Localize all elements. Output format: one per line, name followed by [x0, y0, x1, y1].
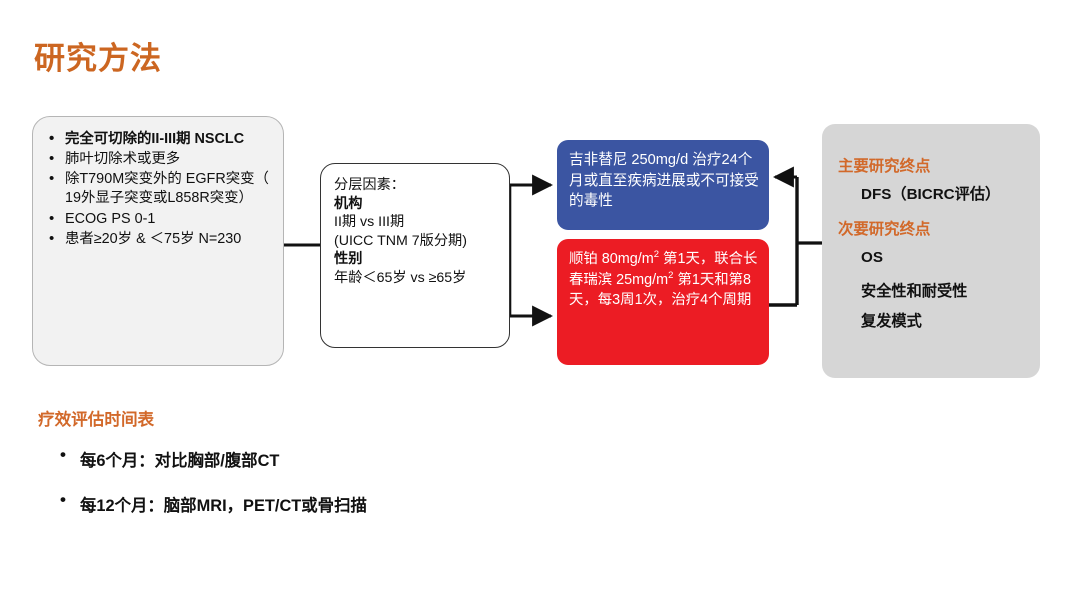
secondary-endpoint-item: 复发模式: [861, 313, 1032, 331]
primary-endpoint-heading: 主要研究终点: [838, 158, 1032, 176]
eligibility-list: 完全可切除的II-III期 NSCLC 肺叶切除术或更多 除T790M突变外的 …: [45, 130, 275, 250]
schedule-title: 疗效评估时间表: [38, 406, 598, 430]
chemotherapy-arm-label: 顺铂 80mg/m2 第1天，联合长春瑞滨 25mg/m2 第1天和第8天，每3…: [569, 248, 761, 310]
list-item: 每12个月：脑部MRI，PET/CT或骨扫描: [38, 492, 598, 516]
list-item: 每6个月：对比胸部/腹部CT: [38, 447, 598, 471]
gefitinib-arm-box: 吉非替尼 250mg/d 治疗24个月或直至疾病进展或不可接受的毒性: [557, 140, 769, 230]
list-item: 患者≥20岁 & ＜75岁 N=230: [45, 230, 275, 249]
stratification-list: 分层因素： 机构 II期 vs III期 (UICC TNM 7版分期) 性别 …: [334, 176, 503, 288]
study-endpoints-panel: 主要研究终点 DFS（BICRC评估） 次要研究终点 OS 安全性和耐受性 复发…: [822, 124, 1040, 378]
primary-endpoint-item: DFS（BICRC评估）: [861, 186, 1032, 204]
slide-canvas: 研究方法 完全可切除的II-III期 NSCLC 肺叶切除术或更多: [0, 0, 1080, 608]
efficacy-assessment-schedule: 疗效评估时间表 每6个月：对比胸部/腹部CT 每12个月：脑部MRI，PET/C…: [38, 406, 598, 537]
secondary-endpoint-item: OS: [861, 249, 1032, 267]
gefitinib-arm-label: 吉非替尼 250mg/d 治疗24个月或直至疾病进展或不可接受的毒性: [569, 150, 760, 212]
stratification-line: II期 vs III期: [334, 213, 503, 232]
secondary-endpoint-item: 安全性和耐受性: [861, 283, 1032, 301]
stratification-line: 机构: [334, 195, 503, 214]
stratification-line: (UICC TNM 7版分期): [334, 232, 503, 251]
list-item: ECOG PS 0-1: [45, 210, 275, 229]
stratification-factors-box: 分层因素： 机构 II期 vs III期 (UICC TNM 7版分期) 性别 …: [320, 163, 510, 348]
list-item: 肺叶切除术或更多: [45, 150, 275, 169]
schedule-list: 每6个月：对比胸部/腹部CT 每12个月：脑部MRI，PET/CT或骨扫描: [38, 447, 598, 516]
list-item: 除T790M突变外的 EGFR突变（ 19外显子突变或L858R突变）: [45, 170, 275, 208]
stratification-line: 性别: [334, 250, 503, 269]
secondary-endpoint-heading: 次要研究终点: [838, 221, 1032, 239]
endpoints-list: 主要研究终点 DFS（BICRC评估） 次要研究终点 OS 安全性和耐受性 复发…: [838, 158, 1032, 342]
stratification-line: 年龄＜65岁 vs ≥65岁: [334, 269, 503, 288]
list-item: 完全可切除的II-III期 NSCLC: [45, 130, 275, 149]
eligibility-criteria-box: 完全可切除的II-III期 NSCLC 肺叶切除术或更多 除T790M突变外的 …: [32, 116, 284, 366]
page-title: 研究方法: [34, 33, 162, 78]
chemotherapy-arm-box: 顺铂 80mg/m2 第1天，联合长春瑞滨 25mg/m2 第1天和第8天，每3…: [557, 239, 769, 365]
stratification-line: 分层因素：: [334, 176, 503, 195]
